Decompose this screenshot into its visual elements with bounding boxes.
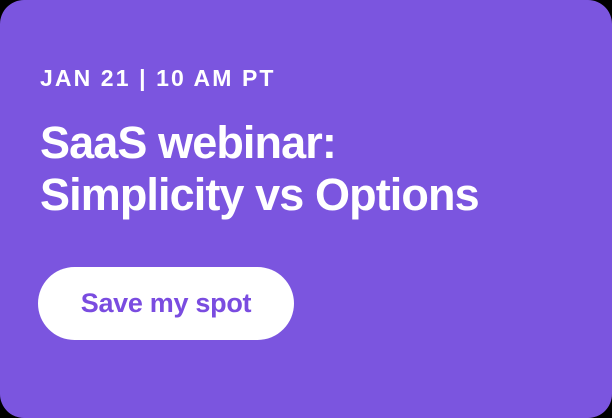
event-datetime-eyebrow: JAN 21 | 10 AM PT [40,63,276,93]
headline-line-2: Simplicity vs Options [40,169,580,221]
save-my-spot-button[interactable]: Save my spot [38,267,294,340]
webinar-promo-card: JAN 21 | 10 AM PT SaaS webinar: Simplici… [0,0,612,418]
page-title: SaaS webinar: Simplicity vs Options [40,117,580,221]
headline-line-1: SaaS webinar: [40,117,580,169]
